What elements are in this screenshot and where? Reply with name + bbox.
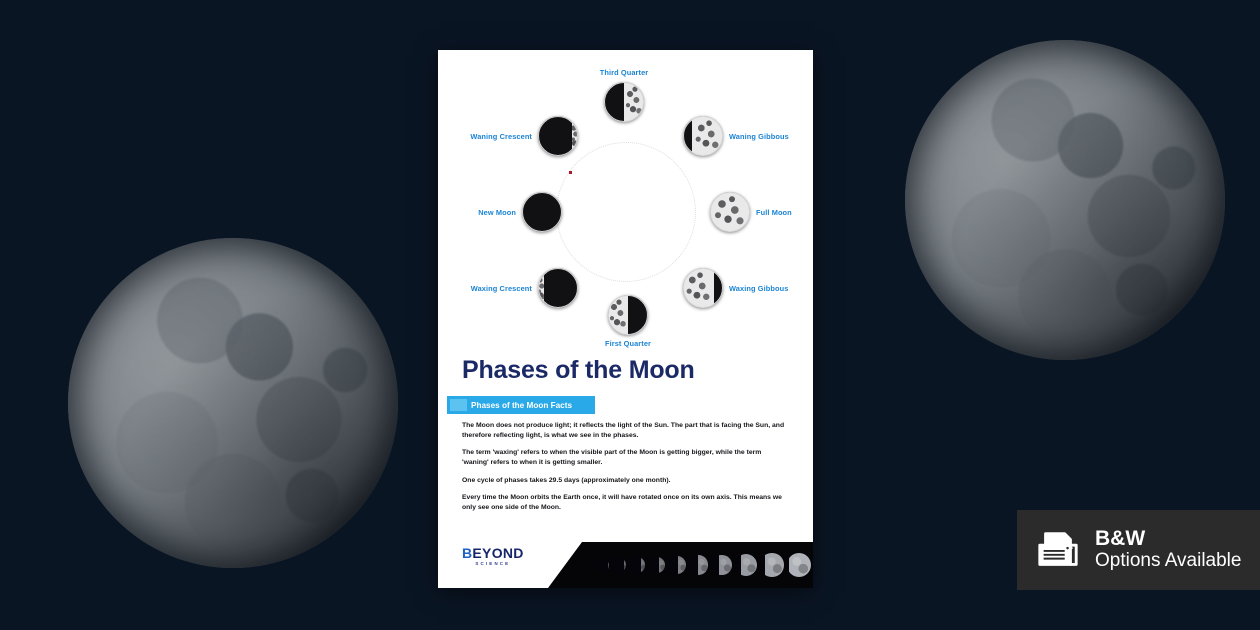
logo-subtext: SCIENCE — [462, 561, 524, 566]
logo-main-text: EYOND — [472, 545, 523, 561]
page-title: Phases of the Moon — [462, 356, 813, 385]
strip-moon — [629, 557, 645, 573]
fact-paragraph: Every time the Moon orbits the Earth onc… — [462, 493, 789, 512]
logo-wordmark: BEYOND — [462, 546, 524, 560]
phase-waning-crescent: Waning Crescent — [538, 116, 578, 156]
phase-waxing-crescent: Waxing Crescent — [538, 268, 578, 308]
logo-drop-letter: B — [462, 546, 472, 560]
phase-label-waxing-crescent: Waxing Crescent — [471, 284, 532, 293]
facts-header-label: Phases of the Moon Facts — [471, 401, 572, 410]
strip-moon — [760, 553, 783, 576]
phase-full-moon: Full Moon — [710, 192, 750, 232]
orbit-circle — [556, 142, 696, 282]
worksheet-footer: BEYOND SCIENCE — [438, 532, 813, 588]
bw-badge-text: B&W Options Available — [1095, 528, 1241, 572]
printer-icon — [1035, 527, 1081, 573]
fact-paragraph: One cycle of phases takes 29.5 days (app… — [462, 476, 789, 486]
bw-badge-title: B&W — [1095, 528, 1241, 550]
phase-label-waxing-gibbous: Waxing Gibbous — [729, 284, 788, 293]
bw-options-badge: B&W Options Available — [1017, 510, 1260, 590]
bw-badge-subtitle: Options Available — [1095, 550, 1241, 572]
moon-phase-progression-strip — [548, 542, 813, 588]
beyond-science-logo: BEYOND SCIENCE — [462, 546, 524, 566]
facts-header-accent-block — [450, 399, 467, 411]
phase-waxing-gibbous: Waxing Gibbous — [683, 268, 723, 308]
facts-list: The Moon does not produce light; it refl… — [462, 421, 789, 512]
screenshot-stage: Third Quarter Waning Gibbous Full Moon — [0, 0, 1260, 630]
strip-moon — [787, 553, 812, 578]
strip-moon — [596, 559, 609, 572]
strip-moon — [612, 558, 626, 572]
strip-moon — [735, 554, 757, 576]
phase-first-quarter: First Quarter — [608, 295, 648, 335]
phase-label-waning-gibbous: Waning Gibbous — [729, 132, 789, 141]
facts-section-header: Phases of the Moon Facts — [448, 397, 594, 413]
moon-photo-right — [905, 40, 1225, 360]
phase-label-first-quarter: First Quarter — [605, 339, 651, 348]
phase-label-new-moon: New Moon — [478, 208, 516, 217]
strip-moon — [689, 555, 709, 575]
phase-third-quarter: Third Quarter — [604, 82, 644, 122]
strip-moon — [648, 557, 665, 574]
fact-paragraph: The Moon does not produce light; it refl… — [462, 421, 789, 440]
fact-paragraph: The term 'waxing' refers to when the vis… — [462, 448, 789, 467]
phase-label-waning-crescent: Waning Crescent — [470, 132, 532, 141]
strip-moon — [668, 556, 686, 574]
orbit-marker-dot — [569, 171, 572, 174]
strip-moon — [711, 555, 732, 576]
moon-photo-left — [68, 238, 398, 568]
moon-phase-wheel: Third Quarter Waning Gibbous Full Moon — [438, 50, 813, 350]
phase-label-third-quarter: Third Quarter — [600, 68, 649, 77]
phase-new-moon: New Moon — [522, 192, 562, 232]
phase-waning-gibbous: Waning Gibbous — [683, 116, 723, 156]
worksheet-page: Third Quarter Waning Gibbous Full Moon — [438, 50, 813, 588]
phase-label-full-moon: Full Moon — [756, 208, 792, 217]
